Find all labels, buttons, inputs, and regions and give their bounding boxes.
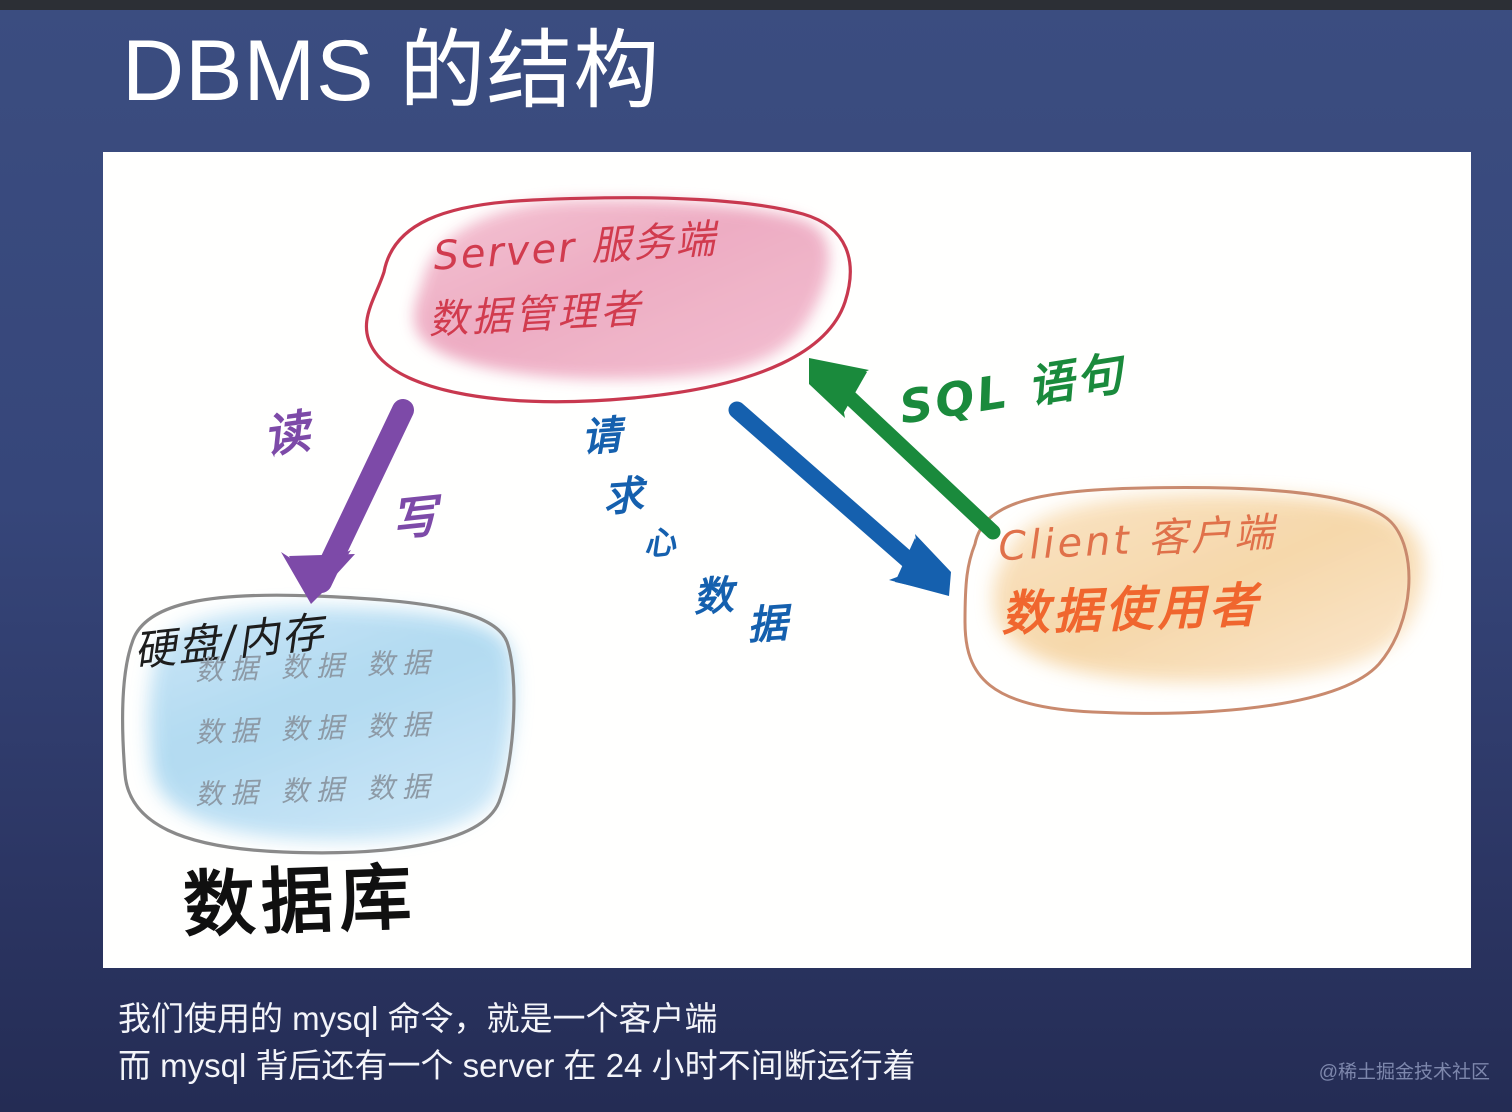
data-request-char: 据 — [745, 591, 789, 652]
data-request-char: 求 — [601, 463, 645, 524]
caption-line-2: 而 mysql 背后还有一个 server 在 24 小时不间断运行着 — [118, 1043, 916, 1090]
server-bubble-shape — [366, 198, 850, 402]
data-request-char: 请 — [579, 403, 623, 464]
caption-line-1: 我们使用的 mysql 命令，就是一个客户端 — [118, 996, 916, 1043]
diagram-canvas — [103, 152, 1471, 968]
database-blob-shape — [123, 595, 515, 853]
read-write-arrow-shape — [281, 410, 403, 604]
slide-caption: 我们使用的 mysql 命令，就是一个客户端 而 mysql 背后还有一个 se… — [118, 996, 916, 1090]
data-request-char: 心 — [641, 516, 678, 565]
data-response-arrow-shape — [737, 410, 951, 596]
client-bubble-shape — [965, 488, 1424, 714]
slide-root: DBMS 的结构 — [0, 0, 1512, 1112]
top-strip — [0, 0, 1512, 10]
diagram-panel: Server 服务端 数据管理者 Client 客户端 数据使用者 硬盘/内存 … — [103, 152, 1471, 968]
watermark: @稀土掘金技术社区 — [1319, 1057, 1490, 1084]
page-title: DBMS 的结构 — [122, 26, 660, 116]
data-request-char: 数 — [691, 563, 735, 624]
